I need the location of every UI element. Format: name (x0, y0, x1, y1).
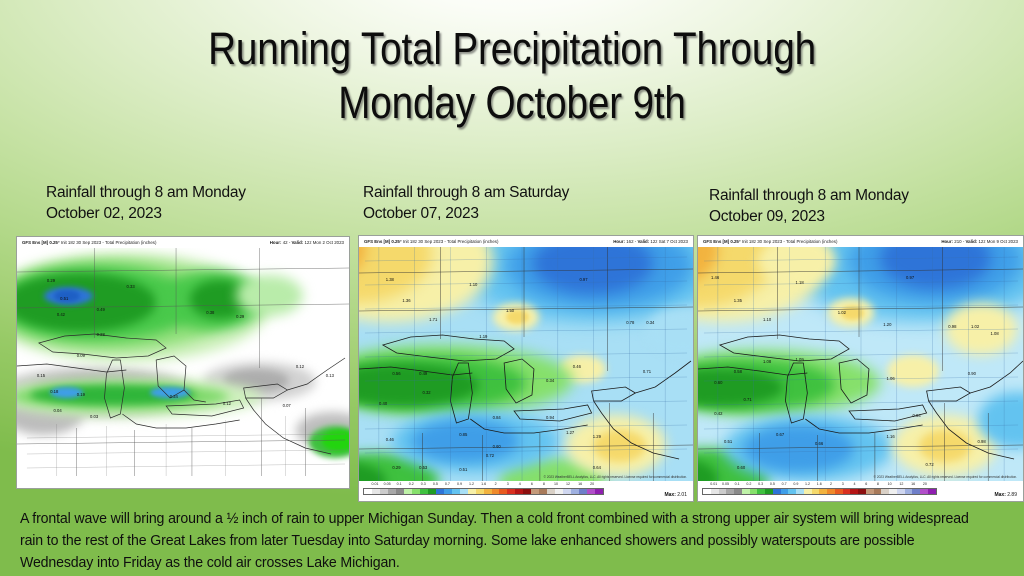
colorbar-tick-label: 3 (842, 482, 844, 486)
colorbar-tick-label: 10 (888, 482, 892, 486)
max-value-2: Max: 2.01 (664, 492, 687, 498)
colorbar-swatch (912, 489, 920, 494)
colorbar-swatch (579, 489, 587, 494)
panel-hour-2: 162 (626, 239, 633, 244)
colorbar-swatch (484, 489, 492, 494)
precip-map-2: 1.38 1.36 1.71 1.10 1.50 1.19 0.97 0.78 … (359, 247, 693, 481)
colorbar-swatch (547, 489, 555, 494)
colorbar-swatch (492, 489, 500, 494)
colorbar-tick-label: 2 (830, 482, 832, 486)
panel-header-1: GFS Ens [M] 0.25° Init 18z 30 Sep 2023 -… (17, 237, 349, 248)
colorbar-swatch (850, 489, 858, 494)
geography-overlay-3 (698, 247, 1023, 481)
colorbar-tick-label: 0.9 (457, 482, 462, 486)
copyright-credit-2: © 2023 WeatherBELL Analytics, LLC. All r… (544, 475, 687, 479)
panel-caption-3: Rainfall through 8 am Monday October 09,… (709, 186, 909, 227)
colorbar-swatches-3 (702, 488, 937, 495)
colorbar-ticks-2: 0.010.050.10.20.30.50.70.91.21.623468101… (363, 482, 604, 488)
colorbar-tick-label: 12 (899, 482, 903, 486)
colorbar-tick-label: 10 (554, 482, 558, 486)
map-panel-3[interactable]: GFS Ens [M] 0.25° Init 18z 30 Sep 2023 -… (697, 235, 1024, 502)
colorbar-swatch (726, 489, 734, 494)
colorbar-swatch (812, 489, 820, 494)
colorbar-swatch (866, 489, 874, 494)
panel-hour-label-2: Hour: (613, 239, 625, 244)
colorbar-swatch (897, 489, 905, 494)
colorbar-tick-label: 8 (877, 482, 879, 486)
colorbar-tick-label: 0.1 (735, 482, 740, 486)
page-title: Running Total Precipitation Through Mond… (72, 22, 953, 130)
colorbar-tick-label: 1.2 (469, 482, 474, 486)
panel-init-2: Init 18z 30 Sep 2023 - Total Precipitati… (403, 239, 499, 244)
colorbar-tick-label: 16 (578, 482, 582, 486)
colorbar-swatch (372, 489, 380, 494)
colorbar-tick-label: 0.5 (770, 482, 775, 486)
colorbar-tick-label: 6 (531, 482, 533, 486)
colorbar-swatches-2 (363, 488, 604, 495)
colorbar-swatch (468, 489, 476, 494)
map-panel-1[interactable]: GFS Ens [M] 0.25° Init 18z 30 Sep 2023 -… (16, 236, 350, 489)
panel-model-2: GFS Ens [M] 0.25° (364, 239, 402, 244)
colorbar-swatch (595, 489, 603, 494)
colorbar-tick-label: 4 (519, 482, 521, 486)
forecast-discussion-text: A frontal wave will bring around a ½ inc… (20, 508, 982, 575)
colorbar-tick-label: 12 (566, 482, 570, 486)
colorbar-swatch (765, 489, 773, 494)
colorbar-swatch (750, 489, 758, 494)
colorbar-swatch (531, 489, 539, 494)
colorbar-swatch (742, 489, 750, 494)
presentation-slide: Running Total Precipitation Through Mond… (0, 0, 1024, 576)
panel-hour-label-3: Hour: (941, 239, 953, 244)
panel-header-2: GFS Ens [M] 0.25° Init 18z 30 Sep 2023 -… (359, 236, 693, 247)
geography-overlay-2 (359, 247, 693, 481)
colorbar-tick-label: 0.7 (782, 482, 787, 486)
colorbar-swatch (571, 489, 579, 494)
colorbar-tick-label: 1.6 (481, 482, 486, 486)
colorbar-swatch (819, 489, 827, 494)
colorbar-swatch (889, 489, 897, 494)
colorbar-swatch (428, 489, 436, 494)
colorbar-swatch (364, 489, 372, 494)
colorbar-swatch (555, 489, 563, 494)
colorbar-swatch (476, 489, 484, 494)
panel-valid-label-1: Valid: (292, 240, 304, 245)
colorbar-swatch (781, 489, 789, 494)
panel-valid-1: 12z Mon 2 Oct 2023 (304, 240, 344, 245)
colorbar-tick-label: 1.6 (817, 482, 822, 486)
colorbar-tick-label: 0.3 (421, 482, 426, 486)
colorbar-swatch (928, 489, 936, 494)
panel-hour-label-1: Hour: (270, 240, 282, 245)
colorbar-swatch (711, 489, 719, 494)
colorbar-tick-label: 4 (853, 482, 855, 486)
colorbar-swatch (539, 489, 547, 494)
colorbar-tick-label: 0.01 (372, 482, 379, 486)
colorbar-swatch (804, 489, 812, 494)
colorbar-3: © 2023 WeatherBELL Analytics, LLC. All r… (698, 481, 1023, 502)
colorbar-swatch (796, 489, 804, 494)
map-panel-2[interactable]: GFS Ens [M] 0.25° Init 18z 30 Sep 2023 -… (358, 235, 694, 502)
colorbar-swatch (507, 489, 515, 494)
colorbar-swatch (436, 489, 444, 494)
panel-valid-3: 12z Mon 9 Oct 2023 (978, 239, 1018, 244)
colorbar-swatch (843, 489, 851, 494)
precip-map-1: 0.51 0.42 0.49 0.29 0.33 0.38 0.29 0.28 … (17, 248, 349, 476)
colorbar-swatch (881, 489, 889, 494)
colorbar-swatch (835, 489, 843, 494)
colorbar-2: © 2023 WeatherBELL Analytics, LLC. All r… (359, 481, 693, 502)
colorbar-swatch (858, 489, 866, 494)
colorbar-ticks-3: 0.010.050.10.20.30.50.70.91.21.623468101… (702, 482, 937, 488)
colorbar-tick-label: 0.3 (758, 482, 763, 486)
panel-header-3: GFS Ens [M] 0.25° Init 18z 30 Sep 2023 -… (698, 236, 1023, 247)
colorbar-swatch (920, 489, 928, 494)
colorbar-swatch (734, 489, 742, 494)
colorbar-tick-label: 0.2 (409, 482, 414, 486)
geography-overlay-1 (17, 248, 349, 476)
colorbar-tick-label: 3 (507, 482, 509, 486)
colorbar-tick-label: 2 (495, 482, 497, 486)
colorbar-tick-label: 8 (543, 482, 545, 486)
colorbar-tick-label: 1.2 (805, 482, 810, 486)
colorbar-swatch (444, 489, 452, 494)
colorbar-swatch (515, 489, 523, 494)
colorbar-swatch (703, 489, 711, 494)
colorbar-tick-label: 0.05 (722, 482, 729, 486)
colorbar-swatch (404, 489, 412, 494)
colorbar-swatch (719, 489, 727, 494)
panel-valid-2: 12z Sat 7 Oct 2023 (650, 239, 688, 244)
precip-map-3: 1.46 1.35 1.18 1.10 1.02 0.97 1.20 0.98 … (698, 247, 1023, 481)
colorbar-tick-label: 0.2 (746, 482, 751, 486)
colorbar-tick-label: 16 (911, 482, 915, 486)
colorbar-tick-label: 20 (923, 482, 927, 486)
colorbar-swatch (523, 489, 531, 494)
colorbar-swatch (773, 489, 781, 494)
colorbar-swatch (412, 489, 420, 494)
colorbar-tick-label: 20 (590, 482, 594, 486)
colorbar-swatch (757, 489, 765, 494)
colorbar-swatch (388, 489, 396, 494)
panel-hour-1: 42 (283, 240, 288, 245)
colorbar-tick-label: 0.7 (445, 482, 450, 486)
max-value-3: Max: 2.89 (994, 492, 1017, 498)
colorbar-swatch (396, 489, 404, 494)
colorbar-swatch (563, 489, 571, 494)
colorbar-tick-label: 0.5 (433, 482, 438, 486)
colorbar-swatch (460, 489, 468, 494)
colorbar-tick-label: 0.1 (397, 482, 402, 486)
panel-hour-3: 210 (954, 239, 961, 244)
colorbar-swatch (874, 489, 882, 494)
panel-valid-label-2: Valid: (637, 239, 649, 244)
colorbar-swatch (452, 489, 460, 494)
colorbar-swatch (380, 489, 388, 494)
panel-caption-2: Rainfall through 8 am Saturday October 0… (363, 183, 569, 224)
panel-caption-1: Rainfall through 8 am Monday October 02,… (46, 183, 246, 224)
panel-model-3: GFS Ens [M] 0.25° (703, 239, 741, 244)
panel-init-1: Init 18z 30 Sep 2023 - Total Precipitati… (61, 240, 157, 245)
copyright-credit-3: © 2023 WeatherBELL Analytics, LLC. All r… (874, 475, 1017, 479)
panel-init-3: Init 18z 30 Sep 2023 - Total Precipitati… (742, 239, 838, 244)
colorbar-swatch (788, 489, 796, 494)
colorbar-tick-label: 0.9 (793, 482, 798, 486)
colorbar-swatch (905, 489, 913, 494)
colorbar-tick-label: 0.01 (710, 482, 717, 486)
panel-model-1: GFS Ens [M] 0.25° (22, 240, 60, 245)
colorbar-tick-label: 0.05 (384, 482, 391, 486)
colorbar-swatch (587, 489, 595, 494)
colorbar-swatch (827, 489, 835, 494)
colorbar-swatch (499, 489, 507, 494)
panel-valid-label-3: Valid: (966, 239, 978, 244)
colorbar-swatch (420, 489, 428, 494)
colorbar-tick-label: 6 (865, 482, 867, 486)
